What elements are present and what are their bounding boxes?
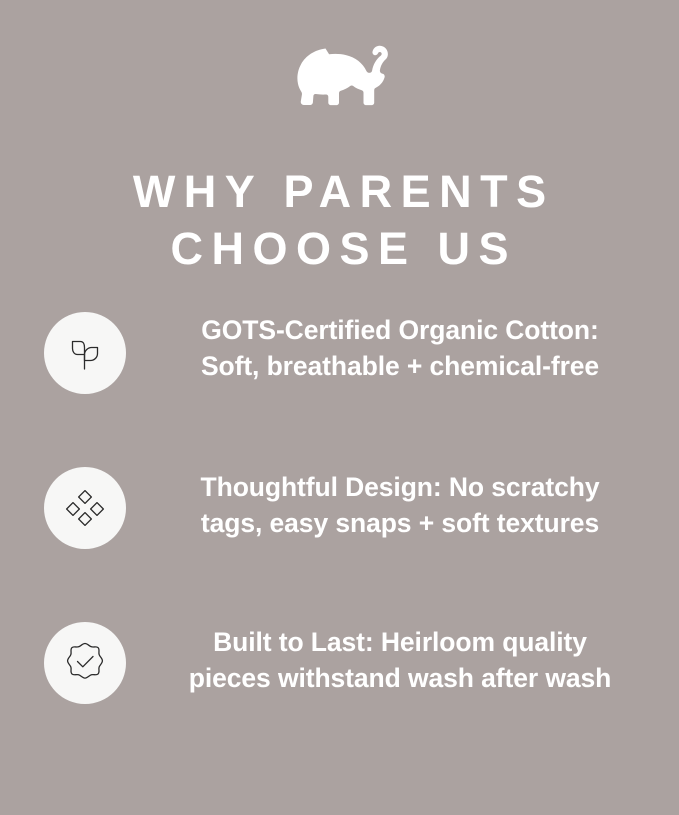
badge-check-icon xyxy=(61,639,109,687)
feature-text-line-1: Built to Last: Heirloom quality xyxy=(150,624,650,660)
feature-icon-badge xyxy=(44,467,126,549)
feature-text: GOTS-Certified Organic Cotton: Soft, bre… xyxy=(150,312,650,384)
feature-icon-badge xyxy=(44,622,126,704)
feature-list: GOTS-Certified Organic Cotton: Soft, bre… xyxy=(0,300,679,765)
feature-item-organic-cotton: GOTS-Certified Organic Cotton: Soft, bre… xyxy=(0,300,679,455)
sprout-icon xyxy=(63,331,107,375)
elephant-icon xyxy=(292,38,388,110)
feature-item-thoughtful-design: Thoughtful Design: No scratchy tags, eas… xyxy=(0,455,679,610)
feature-text-line-2: tags, easy snaps + soft textures xyxy=(150,505,650,541)
feature-text-line-2: Soft, breathable + chemical-free xyxy=(150,348,650,384)
feature-icon-badge xyxy=(44,312,126,394)
feature-text-line-2: pieces withstand wash after wash xyxy=(150,660,650,696)
feature-text: Thoughtful Design: No scratchy tags, eas… xyxy=(150,469,650,541)
promo-panel: WHY PARENTS CHOOSE US GOTS-Certifie xyxy=(0,0,679,815)
feature-text-line-1: Thoughtful Design: No scratchy xyxy=(150,469,650,505)
four-diamonds-icon xyxy=(63,486,107,530)
page-title-line-1: WHY PARENTS xyxy=(0,163,679,220)
feature-text: Built to Last: Heirloom quality pieces w… xyxy=(150,624,650,696)
page-title: WHY PARENTS CHOOSE US xyxy=(0,163,679,277)
brand-logo xyxy=(0,36,679,112)
feature-text-line-1: GOTS-Certified Organic Cotton: xyxy=(150,312,650,348)
page-title-line-2: CHOOSE US xyxy=(0,220,679,277)
feature-item-built-to-last: Built to Last: Heirloom quality pieces w… xyxy=(0,610,679,765)
